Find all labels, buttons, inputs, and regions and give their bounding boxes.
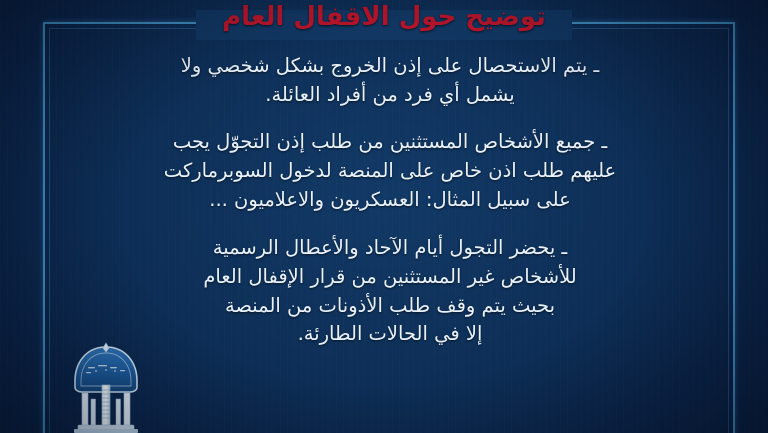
bullet-line: على سبيل المثال: العسكريون والاعلاميون .… <box>209 188 570 211</box>
bullet-line: للأشخاص غير المستثنين من قرار الإقفال ال… <box>203 265 576 288</box>
bullet-line: عليهم طلب اذن خاص على المنصة لدخول السوب… <box>164 159 616 182</box>
bullet-marker: ـ <box>562 236 568 259</box>
security-forces-emblem-icon <box>66 341 146 433</box>
poster-canvas: توضيح حول الاقفال العام ـ يتم الاستحصال … <box>0 0 768 433</box>
bullet-line: يحضر التجول أيام الآحاد والأعطال الرسمية <box>213 236 556 259</box>
page-title: توضيح حول الاقفال العام <box>0 1 768 34</box>
list-item: ـ يتم الاستحصال على إذن الخروج بشكل شخصي… <box>60 52 720 109</box>
bullet-line: جميع الأشخاص المستثنين من طلب إذن التجوّ… <box>173 130 595 153</box>
list-item: ـ جميع الأشخاص المستثنين من طلب إذن التج… <box>60 128 720 214</box>
list-item: ـ يحضر التجول أيام الآحاد والأعطال الرسم… <box>60 234 720 349</box>
bullet-marker: ـ <box>594 54 600 77</box>
bullet-line: إلا في الحالات الطارئة. <box>298 322 483 345</box>
bullet-list: ـ يتم الاستحصال على إذن الخروج بشكل شخصي… <box>60 48 720 427</box>
bullet-line: يشمل أي فرد من أفراد العائلة. <box>265 83 514 106</box>
bullet-line: يتم الاستحصال على إذن الخروج بشكل شخصي و… <box>181 54 588 77</box>
bullet-line: بحيث يتم وقف طلب الأذونات من المنصة <box>225 294 555 317</box>
bullet-marker: ـ <box>601 130 607 153</box>
